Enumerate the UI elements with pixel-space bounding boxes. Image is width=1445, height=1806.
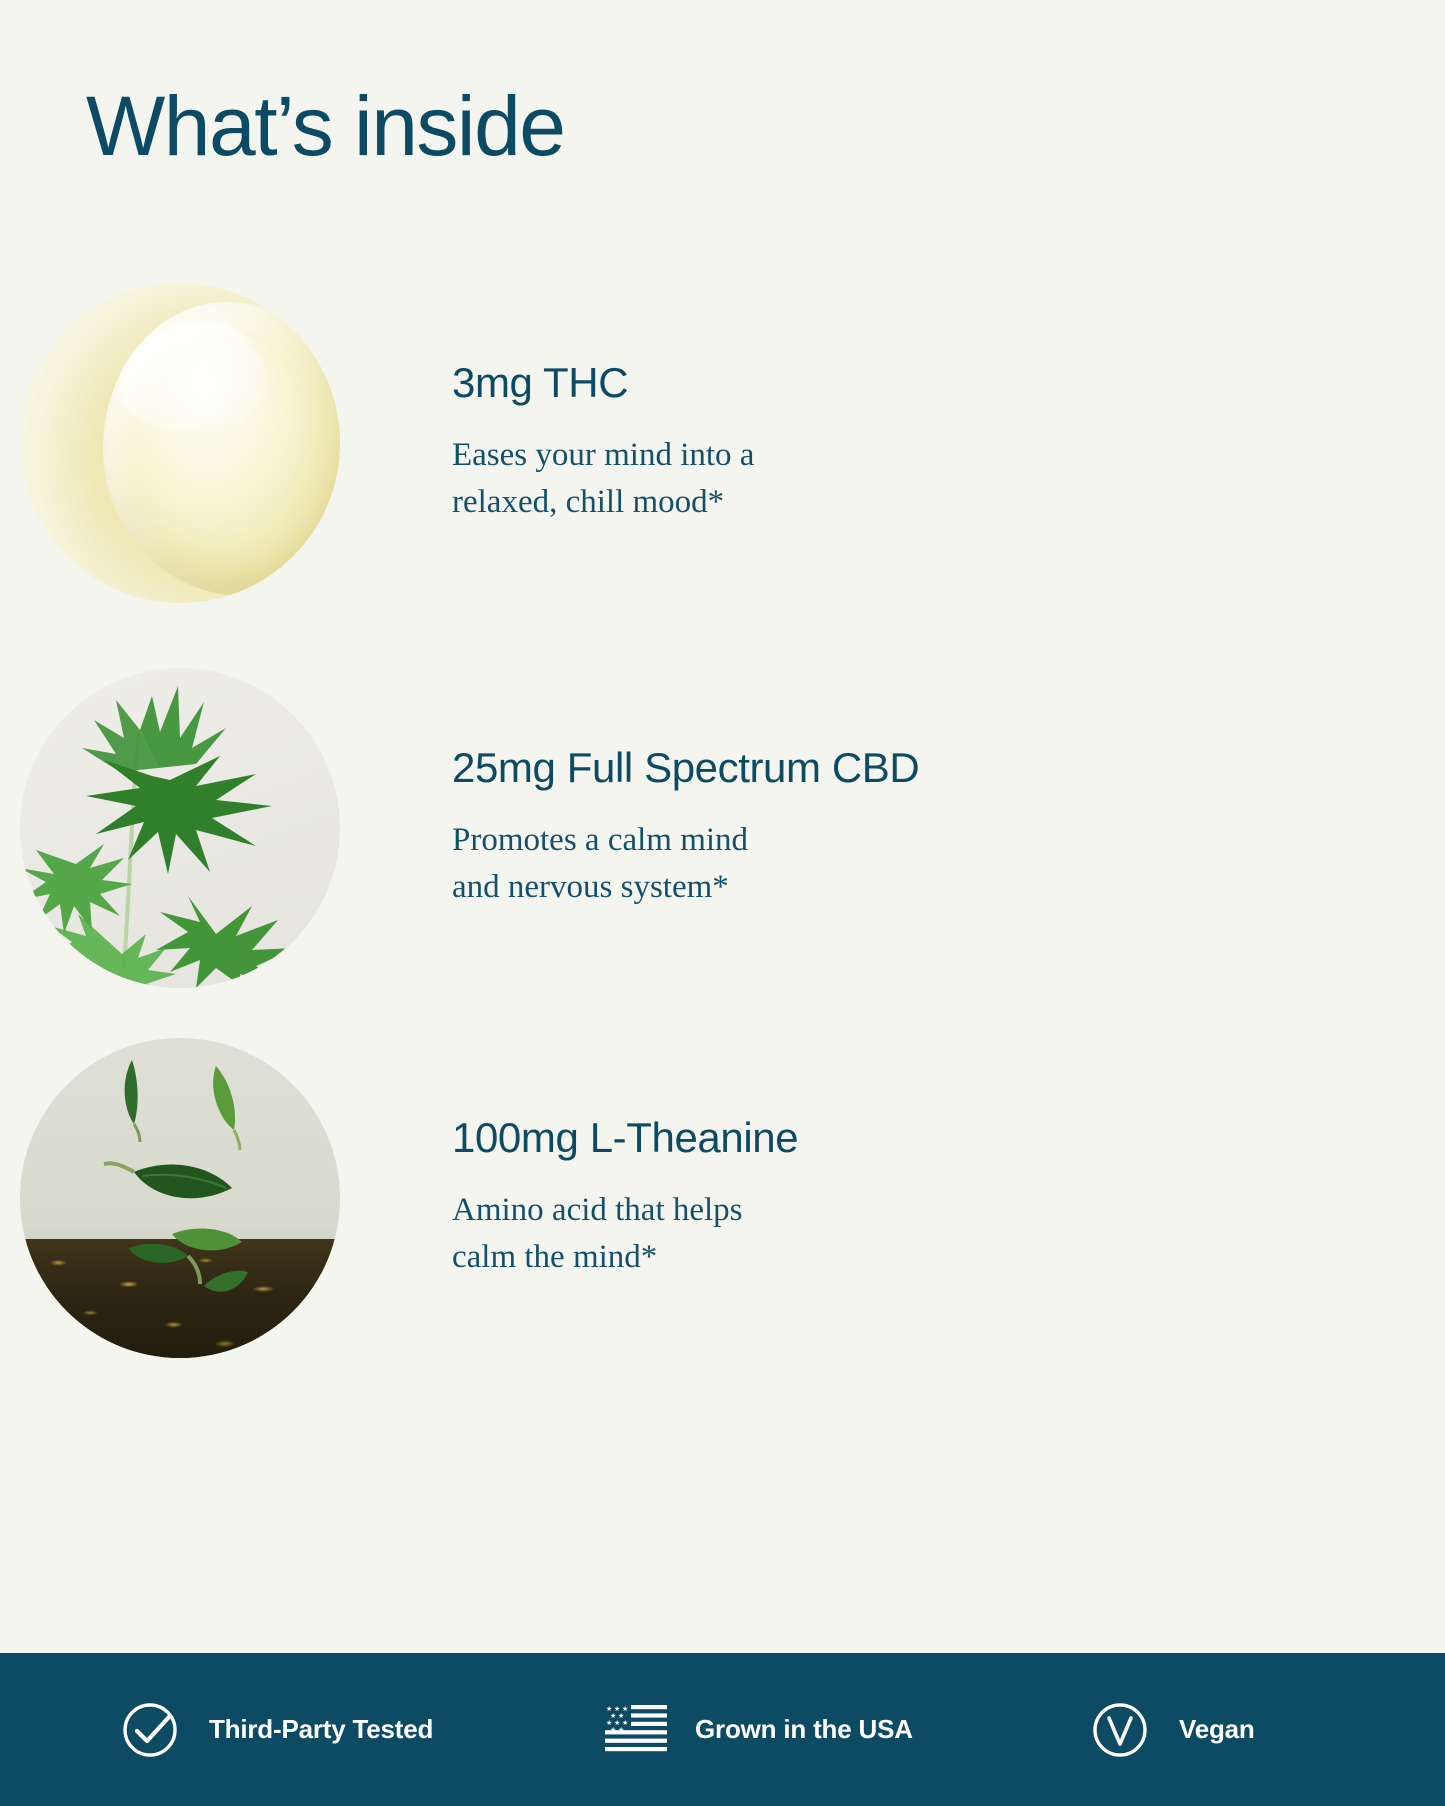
- ingredient-text: 25mg Full Spectrum CBD Promotes a calm m…: [360, 745, 919, 911]
- badge-grown-in-usa: ★★★ ★★ ★★★ ★★ Grown in the USA: [604, 1698, 913, 1762]
- badge-label: Grown in the USA: [695, 1714, 913, 1745]
- ingredient-description: Promotes a calm mind and nervous system*: [452, 817, 919, 911]
- svg-text:★: ★: [606, 1719, 612, 1727]
- svg-text:★: ★: [618, 1712, 624, 1720]
- ingredient-text: 100mg L-Theanine Amino acid that helps c…: [360, 1115, 798, 1281]
- page-title: What’s inside: [86, 84, 565, 168]
- ingredient-title: 25mg Full Spectrum CBD: [452, 745, 919, 791]
- check-circle-icon: [118, 1698, 182, 1762]
- svg-text:★: ★: [614, 1705, 620, 1713]
- ingredient-text: 3mg THC Eases your mind into a relaxed, …: [360, 360, 754, 526]
- usa-flag-icon: ★★★ ★★ ★★★ ★★: [604, 1698, 668, 1762]
- badge-label: Vegan: [1179, 1714, 1255, 1745]
- badge-label: Third-Party Tested: [209, 1714, 433, 1745]
- oil-droplet-art: [20, 283, 340, 603]
- ingredient-description: Amino acid that helps calm the mind*: [452, 1187, 798, 1281]
- list-item: 100mg L-Theanine Amino acid that helps c…: [0, 1020, 1445, 1375]
- list-item: 25mg Full Spectrum CBD Promotes a calm m…: [0, 635, 1445, 1020]
- tea-leaf-image: [0, 1038, 360, 1358]
- tea-leaf-icon: [20, 1038, 340, 1358]
- ingredient-title: 100mg L-Theanine: [452, 1115, 798, 1161]
- svg-text:★: ★: [622, 1719, 628, 1727]
- svg-text:★: ★: [614, 1719, 620, 1727]
- ingredient-title: 3mg THC: [452, 360, 754, 406]
- hemp-leaf-art: [20, 668, 340, 988]
- svg-text:★: ★: [618, 1726, 624, 1734]
- tea-leaf-art: [20, 1038, 340, 1358]
- svg-text:★: ★: [606, 1705, 612, 1713]
- hemp-leaf-image: [0, 668, 360, 988]
- ingredient-description: Eases your mind into a relaxed, chill mo…: [452, 432, 754, 526]
- badge-third-party-tested: Third-Party Tested: [118, 1698, 433, 1762]
- svg-text:★: ★: [610, 1712, 616, 1720]
- badge-vegan: Vegan: [1088, 1698, 1255, 1762]
- hemp-leaf-icon: [20, 668, 340, 988]
- list-item: 3mg THC Eases your mind into a relaxed, …: [0, 250, 1445, 635]
- oil-droplet-image: [0, 283, 360, 603]
- vegan-v-circle-icon: [1088, 1698, 1152, 1762]
- trust-badge-bar: Third-Party Tested ★★★ ★★: [0, 1653, 1445, 1806]
- svg-text:★: ★: [610, 1726, 616, 1734]
- ingredient-list: 3mg THC Eases your mind into a relaxed, …: [0, 250, 1445, 1375]
- whats-inside-page: What’s inside 3mg THC Eases your mind in…: [0, 0, 1445, 1806]
- svg-text:★: ★: [622, 1705, 628, 1713]
